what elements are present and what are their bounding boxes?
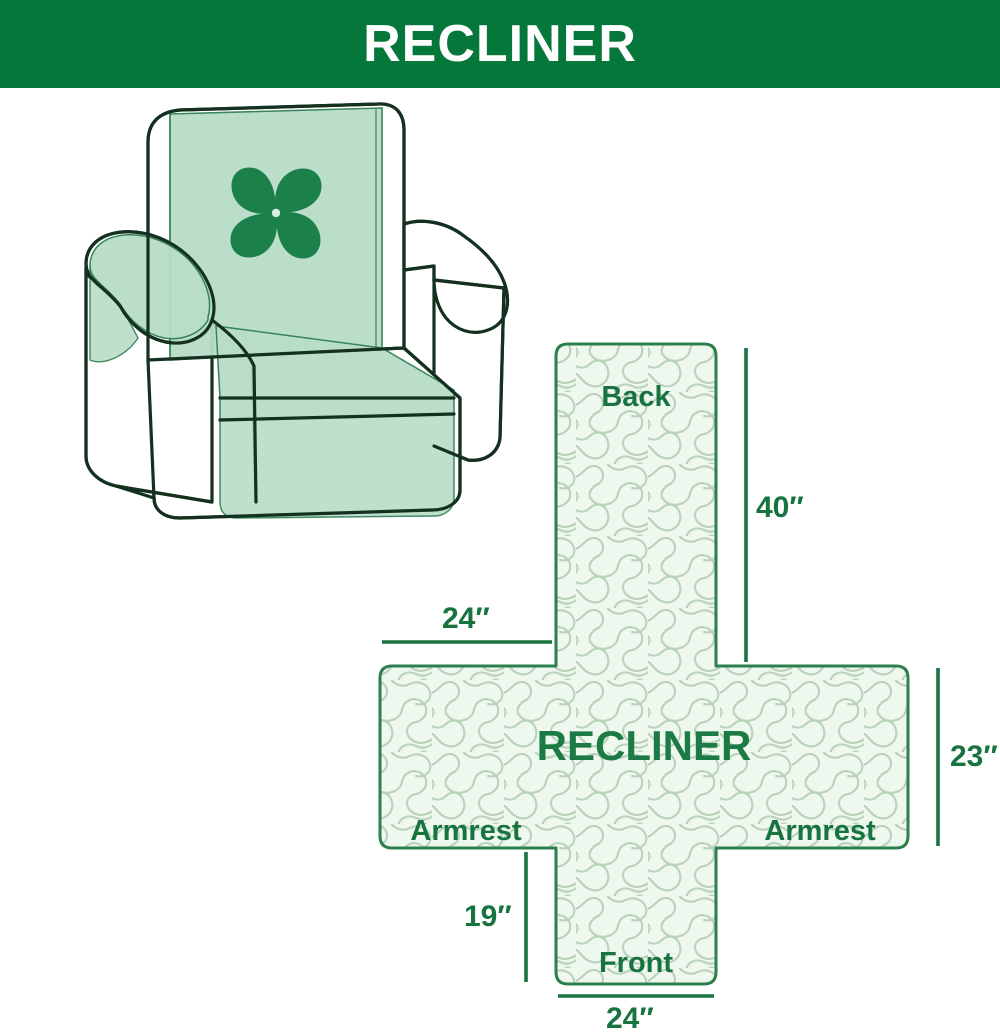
panel-label-armrest-left: Armrest: [410, 815, 522, 847]
diagram-canvas: Back Armrest Armrest Front RECLINER 40″ …: [0, 88, 1000, 1000]
dim-label-armrest-width: 24″: [442, 604, 490, 634]
dim-label-seat-depth: 23″: [950, 742, 998, 772]
flat-lay-cover-pattern: Back Armrest Armrest Front RECLINER 40″ …: [360, 248, 1000, 1008]
panel-label-back: Back: [601, 381, 671, 413]
dim-label-front-width: 24″: [606, 1004, 654, 1034]
panel-label-front: Front: [599, 947, 673, 979]
panel-label-armrest-right: Armrest: [764, 815, 876, 847]
dim-label-back-height: 40″: [756, 493, 804, 523]
center-label-recliner: RECLINER: [537, 722, 752, 769]
header-bar: RECLINER: [0, 0, 1000, 88]
cover-cross-outline: [380, 344, 908, 984]
page-title: RECLINER: [363, 18, 637, 70]
dim-label-front-drop: 19″: [464, 902, 512, 932]
